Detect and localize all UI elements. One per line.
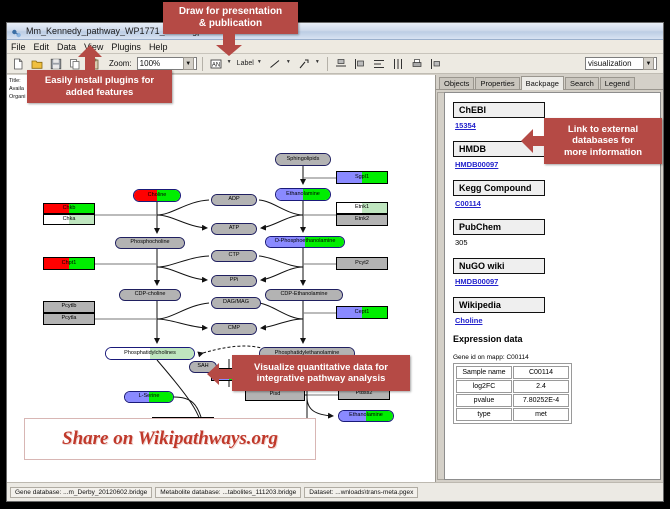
menu-item-data[interactable]: Data — [57, 42, 76, 52]
share-text: Share on Wikipathways.org — [62, 428, 278, 450]
app-icon — [11, 26, 22, 37]
gene-node-sgpl1[interactable]: Sgpl1 — [336, 171, 388, 184]
callout-draw-line1: Draw for presentation — [179, 6, 282, 18]
align-left-icon[interactable] — [352, 56, 368, 72]
visualization-chevron-down-icon[interactable]: ▼ — [643, 57, 654, 70]
table-row: Sample name C00114 — [456, 366, 569, 379]
distribute-icon[interactable] — [371, 56, 387, 72]
gene-id-on-mapp: Gene id on mapp: C00114 — [453, 354, 660, 361]
node-label: Ptdss2 — [356, 391, 373, 397]
side-panel-tabs: Objects Properties Backpage Search Legen… — [436, 75, 663, 90]
label-dropdown-label: Label — [237, 60, 254, 67]
node-label: CMP — [228, 326, 240, 332]
visualization-combobox[interactable]: visualization ▼ — [585, 57, 657, 70]
node-label: Ethanolamine — [349, 413, 383, 419]
callout-external-links: Link to external databases for more info… — [544, 118, 662, 164]
callout-plugins-line1: Easily install plugins for — [45, 75, 154, 86]
node-label: Etnk1 — [355, 205, 369, 211]
tab-objects[interactable]: Objects — [439, 77, 474, 89]
metabolite-node-adp[interactable]: ADP — [211, 194, 257, 206]
callout-draw-for-publication: Draw for presentation & publication — [163, 2, 298, 34]
interaction-dropdown-icon[interactable]: ▼ — [315, 59, 322, 68]
expr-value-2: 7.80252E-4 — [513, 394, 569, 407]
metabolite-node-cdp-ethanolamine[interactable]: CDP-Ethanolamine — [265, 289, 343, 301]
db-label-kegg-compound: Kegg Compound — [453, 180, 545, 196]
metabolite-node-phosphocholine[interactable]: Phosphocholine — [115, 237, 185, 249]
node-label: Chkb — [63, 206, 76, 212]
db-label-wikipedia: Wikipedia — [453, 297, 545, 313]
node-label: DAG/MAG — [223, 300, 249, 306]
callout-install-plugins: Easily install plugins for added feature… — [27, 70, 172, 103]
node-label: Etnk2 — [355, 217, 369, 223]
callout-draw-arrow-icon — [214, 33, 244, 57]
metabolite-node-sphingolipids[interactable]: Sphingolipids — [275, 153, 331, 166]
expr-key-3: type — [456, 408, 512, 421]
expr-key-0: Sample name — [456, 366, 512, 379]
status-gene-database: Gene database: ...m_Derby_20120602.bridg… — [10, 487, 152, 498]
metabolite-node-cdp-choline[interactable]: CDP-choline — [119, 289, 181, 301]
tab-search[interactable]: Search — [565, 77, 599, 89]
db-entry-wikipedia: Wikipedia Choline — [453, 295, 660, 325]
metabolite-node-o-phosphoethanolamine[interactable]: O-Phosphoethanolamine — [265, 236, 345, 248]
node-label: Pcytlb — [62, 304, 77, 310]
interaction-icon[interactable] — [296, 56, 312, 72]
tab-backpage[interactable]: Backpage — [521, 76, 564, 90]
expr-value-1: 2.4 — [513, 380, 569, 393]
gene-node-pcytlb[interactable]: Pcytlb — [43, 301, 95, 313]
visualization-value: visualization — [588, 59, 632, 68]
callout-plugins-line2: added features — [45, 87, 154, 98]
node-label: ATP — [229, 226, 239, 232]
expression-data-heading: Expression data — [453, 334, 660, 344]
node-label: Chka — [63, 217, 76, 223]
node-label: ADP — [228, 197, 239, 203]
title-bar: Mm_Kennedy_pathway_WP1771_45176.gpml — [7, 23, 663, 40]
new-icon[interactable] — [10, 56, 26, 72]
table-row: type met — [456, 408, 569, 421]
db-link-wikipedia[interactable]: Choline — [455, 316, 660, 325]
menu-item-edit[interactable]: Edit — [34, 42, 50, 52]
gene-node-etnk1[interactable]: Etnk1 — [336, 202, 388, 214]
callout-links-line2: databases for — [564, 135, 642, 146]
callout-plugins-arrow-icon — [76, 44, 104, 72]
callout-visualize-arrow-icon — [206, 362, 234, 386]
callout-draw-line2: & publication — [179, 18, 282, 30]
node-label: Pisd — [270, 392, 281, 398]
line-dropdown-icon[interactable]: ▼ — [286, 59, 293, 68]
callout-viz-line2: integrative pathway analysis — [254, 373, 388, 384]
node-label: Sphingolipids — [287, 157, 320, 163]
status-bar: Gene database: ...m_Derby_20120602.bridg… — [7, 482, 663, 501]
metabolite-node-choline[interactable]: Choline — [133, 189, 181, 202]
metabolite-node-phosphatidylcholines[interactable]: Phosphatidylcholines — [105, 347, 195, 360]
node-label: O-Phosphoethanolamine — [275, 239, 336, 245]
node-label: PPi — [230, 278, 239, 284]
callout-links-line3: more information — [564, 147, 642, 158]
db-value-pubchem: 305 — [455, 238, 660, 247]
svg-text:AN: AN — [212, 62, 220, 68]
expr-key-1: log2FC — [456, 380, 512, 393]
label-dropdown-icon[interactable]: ▼ — [257, 59, 264, 68]
print-icon[interactable] — [409, 56, 425, 72]
metabolite-node-ethanolamine[interactable]: Ethanolamine — [275, 188, 331, 201]
db-link-kegg-compound[interactable]: C00114 — [455, 199, 660, 208]
db-label-chebi: ChEBI — [453, 102, 545, 118]
zoom-label: Zoom: — [109, 59, 132, 68]
node-label: Sgpl1 — [355, 175, 369, 181]
textbox-dropdown-icon[interactable]: ▼ — [227, 59, 234, 68]
metabolite-node-cmp[interactable]: CMP — [211, 323, 257, 335]
gene-node-chpt1[interactable]: Chpt1 — [43, 257, 95, 270]
node-label: CDP-Ethanolamine — [280, 292, 327, 298]
gene-node-pcytla[interactable]: Pcytla — [43, 313, 95, 325]
node-label: Phosphatidylcholines — [124, 351, 176, 357]
gene-node-pcyt2[interactable]: Pcyt2 — [336, 257, 388, 270]
node-label: Chpt1 — [62, 261, 77, 267]
align-top-icon[interactable] — [333, 56, 349, 72]
db-link-nugo-wiki[interactable]: HMDB00097 — [455, 277, 660, 286]
callout-viz-line1: Visualize quantitative data for — [254, 362, 388, 373]
menu-item-help[interactable]: Help — [149, 42, 168, 52]
expr-value-0: C00114 — [513, 366, 569, 379]
node-label: L-Serine — [139, 394, 160, 400]
gene-node-chka[interactable]: Chka — [43, 214, 95, 225]
metabolite-node-dag-mag[interactable]: DAG/MAG — [211, 297, 261, 309]
stack-icon[interactable] — [390, 56, 406, 72]
gene-node-chkb[interactable]: Chkb — [43, 203, 95, 214]
db-entry-pubchem: PubChem 305 — [453, 217, 660, 247]
gene-node-etnk2[interactable]: Etnk2 — [336, 214, 388, 226]
db-label-nugo-wiki: NuGO wiki — [453, 258, 545, 274]
callout-links-arrow-icon — [520, 128, 546, 154]
toolbar-separator — [202, 57, 203, 71]
textbox-icon[interactable]: AN — [208, 56, 224, 72]
toolbar-separator-2 — [327, 57, 328, 71]
db-entry-kegg: Kegg Compound C00114 — [453, 178, 660, 208]
zoom-value: 100% — [140, 59, 160, 68]
menu-item-plugins[interactable]: Plugins — [111, 42, 141, 52]
node-label: Ethanolamine — [286, 192, 320, 198]
expr-key-2: pvalue — [456, 394, 512, 407]
expression-table: Sample name C00114 log2FC 2.4 pvalue 7.8… — [455, 365, 570, 422]
node-label: Cept1 — [355, 310, 370, 316]
status-dataset: Dataset: ...wnloads\trans-meta.pgex — [304, 487, 418, 498]
node-label: Choline — [148, 193, 167, 199]
chevron-down-icon[interactable]: ▼ — [183, 57, 194, 70]
table-row: pvalue 7.80252E-4 — [456, 394, 569, 407]
table-row: log2FC 2.4 — [456, 380, 569, 393]
expression-table-wrapper: Sample name C00114 log2FC 2.4 pvalue 7.8… — [453, 363, 572, 424]
db-entry-nugo: NuGO wiki HMDB00097 — [453, 256, 660, 286]
order-icon[interactable] — [428, 56, 444, 72]
node-label: CTP — [229, 253, 240, 259]
metabolite-node-atp[interactable]: ATP — [211, 223, 257, 235]
metabolite-node-ethanolamine[interactable]: Ethanolamine — [338, 410, 394, 422]
db-label-pubchem: PubChem — [453, 219, 545, 235]
node-label: Pcyt2 — [355, 261, 369, 267]
tab-properties[interactable]: Properties — [475, 77, 519, 89]
node-label: Pcytla — [62, 316, 77, 322]
callout-links-line1: Link to external — [564, 124, 642, 135]
gene-node-cept1[interactable]: Cept1 — [336, 306, 388, 319]
expr-value-3: met — [513, 408, 569, 421]
callout-visualize-data: Visualize quantitative data for integrat… — [232, 355, 410, 391]
tab-legend[interactable]: Legend — [600, 77, 635, 89]
zoom-combobox[interactable]: 100% ▼ — [137, 57, 197, 70]
menu-bar: File Edit Data View Plugins Help — [7, 40, 663, 54]
metabolite-node-ctp[interactable]: CTP — [211, 250, 257, 262]
line-icon[interactable] — [267, 56, 283, 72]
menu-item-file[interactable]: File — [11, 42, 26, 52]
status-metabolite-database: Metabolite database: ...tabolites_111203… — [155, 487, 301, 498]
metabolite-node-ppi[interactable]: PPi — [211, 275, 257, 287]
node-label: Phosphocholine — [130, 240, 169, 246]
node-label: CDP-choline — [135, 292, 166, 298]
metabolite-node-l-serine[interactable]: L-Serine — [124, 391, 174, 403]
screenshot-root: Mm_Kennedy_pathway_WP1771_45176.gpml Fil… — [0, 0, 670, 509]
callout-share-wikipathways: Share on Wikipathways.org — [24, 418, 316, 460]
